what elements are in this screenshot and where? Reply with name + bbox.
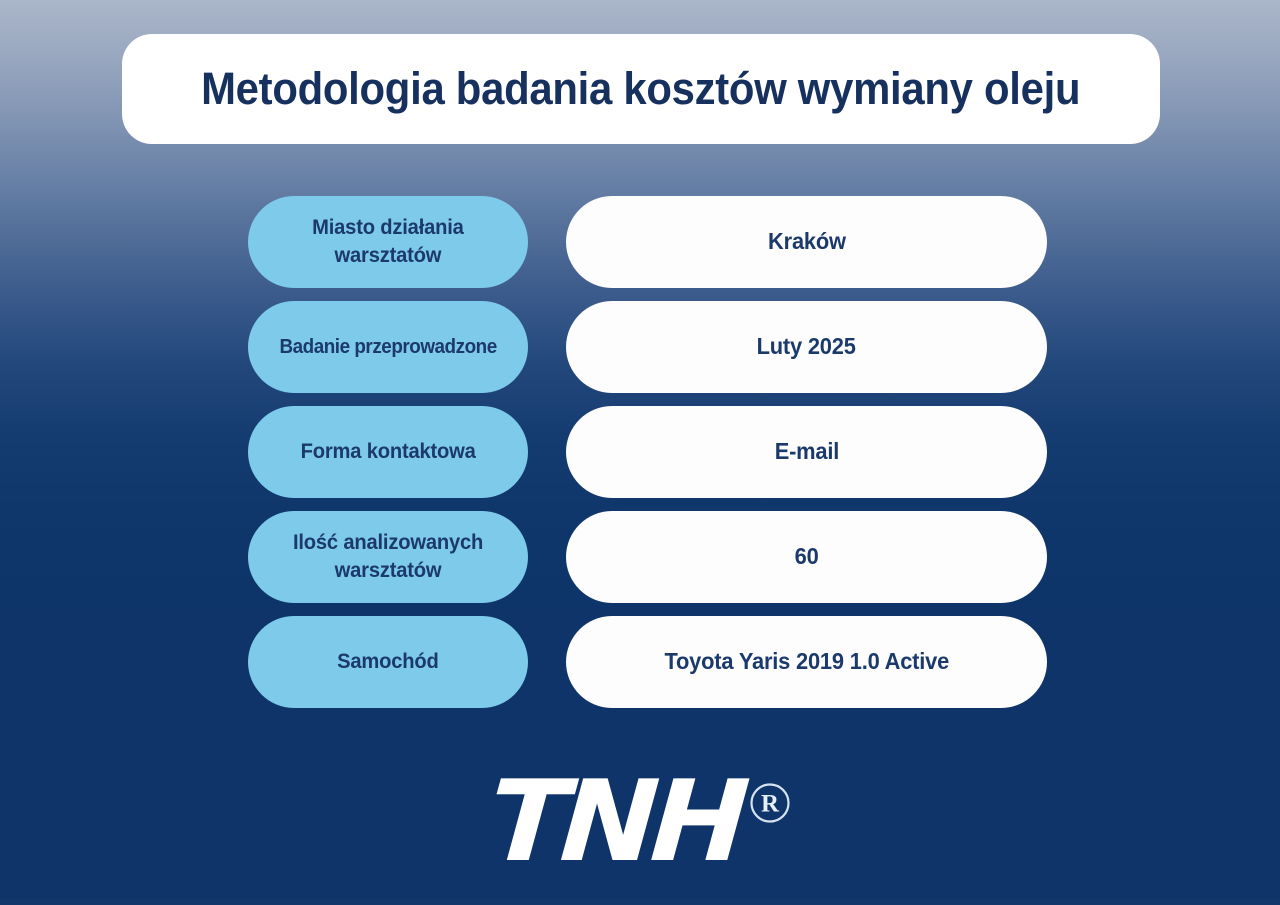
table-row: Ilość analizowanych warsztatów 60 [0,511,1280,603]
label-text: Miasto działania warsztatów [312,214,464,269]
svg-text:R: R [761,791,780,818]
title-card: Metodologia badania kosztów wymiany olej… [122,34,1160,144]
bottom-edge [0,899,1280,905]
row-label-city: Miasto działania warsztatów [248,196,528,288]
label-text: Forma kontaktowa [300,438,475,466]
row-value-contact-form: E-mail [566,406,1047,498]
label-text: Badanie przeprowadzone [279,333,496,360]
logo-inner: TNH R [489,766,792,878]
logo-wordmark-tnh: TNH [485,766,745,878]
label-line-1: Ilość analizowanych [293,531,483,554]
table-row: Badanie przeprowadzone Luty 2025 [0,301,1280,393]
infographic-slide: Metodologia badania kosztów wymiany olej… [0,0,1280,905]
label-text: Samochód [337,648,439,676]
methodology-table: Miasto działania warsztatów Kraków Badan… [0,196,1280,721]
label-line-2: warsztatów [335,559,442,582]
row-label-survey-date: Badanie przeprowadzone [248,301,528,393]
row-value-car: Toyota Yaris 2019 1.0 Active [566,616,1047,708]
registered-trademark-icon: R [749,782,791,824]
value-text: 60 [795,542,819,572]
value-text: E-mail [774,437,838,467]
row-value-survey-date: Luty 2025 [566,301,1047,393]
label-text: Ilość analizowanych warsztatów [293,529,483,584]
row-value-workshop-count: 60 [566,511,1047,603]
row-label-car: Samochód [248,616,528,708]
row-label-workshop-count: Ilość analizowanych warsztatów [248,511,528,603]
table-row: Samochód Toyota Yaris 2019 1.0 Active [0,616,1280,708]
row-value-city: Kraków [566,196,1047,288]
label-line-2: warsztatów [335,244,442,267]
brand-logo: TNH R [0,752,1280,892]
value-text: Kraków [768,227,846,257]
table-row: Forma kontaktowa E-mail [0,406,1280,498]
row-label-contact-form: Forma kontaktowa [248,406,528,498]
value-text: Luty 2025 [757,332,856,362]
value-text: Toyota Yaris 2019 1.0 Active [664,647,949,677]
label-line-1: Miasto działania [312,216,464,239]
table-row: Miasto działania warsztatów Kraków [0,196,1280,288]
page-title: Metodologia badania kosztów wymiany olej… [201,63,1080,115]
